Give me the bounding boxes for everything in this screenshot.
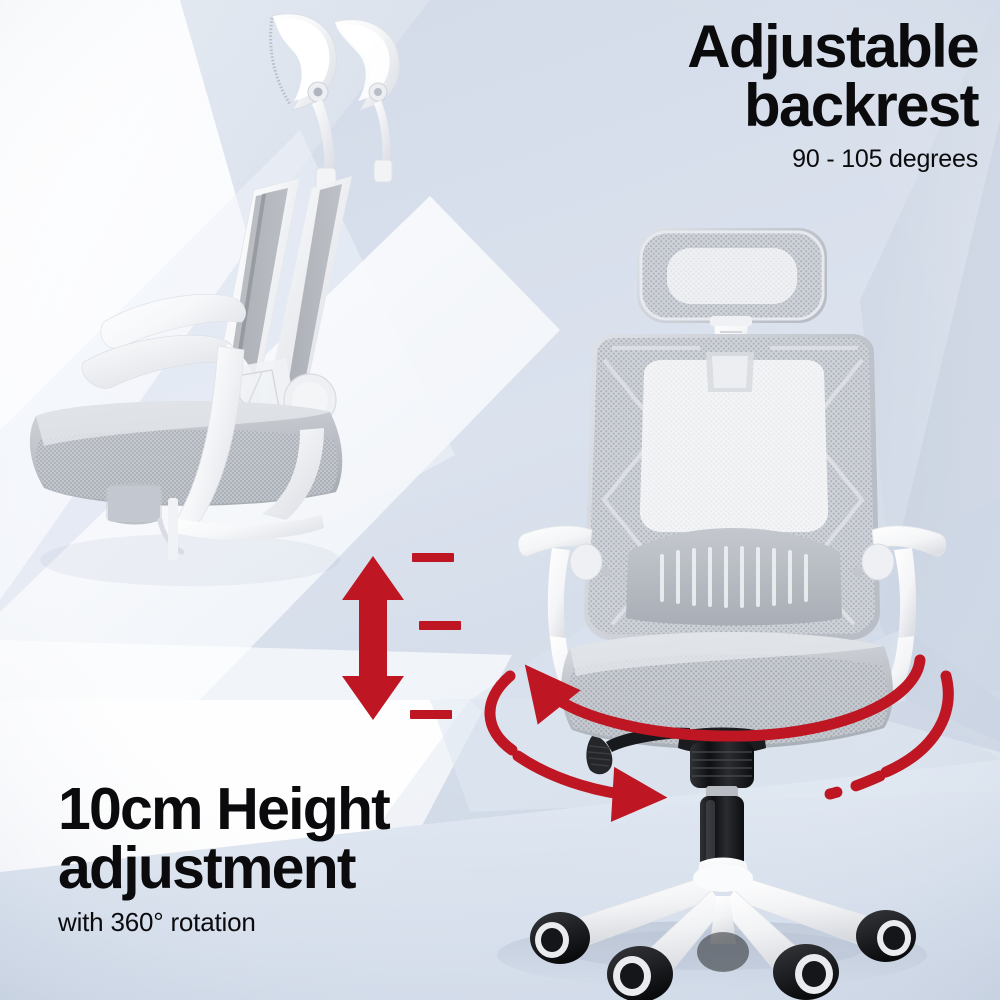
height-callout-line-1: 10cm Height	[58, 780, 389, 838]
height-tick-marks	[410, 553, 461, 719]
height-callout-line-2: adjustment	[58, 839, 389, 897]
headline-line-1: Adjustable	[687, 18, 978, 77]
headline-line-2: backrest	[687, 77, 978, 136]
height-callout-subtitle: with 360° rotation	[58, 907, 389, 938]
headline-block: Adjustable backrest 90 - 105 degrees	[687, 18, 978, 174]
height-callout-block: 10cm Height adjustment with 360° rotatio…	[58, 780, 389, 938]
product-feature-image: Adjustable backrest 90 - 105 degrees 10c…	[0, 0, 1000, 1000]
height-arrow-icon	[342, 556, 404, 720]
headline-subtitle: 90 - 105 degrees	[687, 145, 978, 174]
rotation-arrow-icon	[490, 660, 948, 796]
